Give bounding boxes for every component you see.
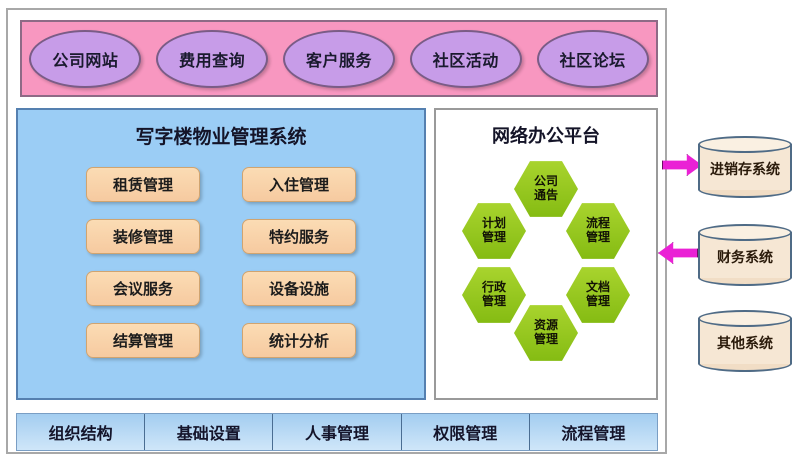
hexagon-company-announcement[interactable]: 公司通告 — [514, 160, 578, 218]
portal-item-label: 客户服务 — [306, 47, 372, 71]
arrow-right-icon — [662, 154, 702, 176]
external-system-label: 进销存系统 — [710, 159, 780, 179]
property-management-panel: 写字楼物业管理系统 租赁管理 入住管理 装修管理 特约服务 会议服务 设备设施 … — [16, 108, 426, 400]
portal-item-company-website[interactable]: 公司网站 — [29, 30, 141, 88]
external-system-label: 财务系统 — [717, 247, 773, 267]
base-item-label: 组织结构 — [49, 420, 113, 444]
module-button-label: 统计分析 — [269, 330, 329, 351]
property-panel-title: 写字楼物业管理系统 — [18, 122, 424, 149]
module-button-occupancy-management[interactable]: 入住管理 — [242, 167, 356, 202]
base-item-permission-management[interactable]: 权限管理 — [402, 414, 530, 450]
module-button-label: 特约服务 — [269, 226, 329, 247]
module-button-label: 结算管理 — [113, 330, 173, 351]
office-platform-panel: 网络办公平台 公司通告 流程管理 文档管理 资源管理 行政管理 计划管理 — [434, 108, 658, 400]
cylinder-label-wrap: 其他系统 — [698, 330, 792, 356]
hexagon-plan-management[interactable]: 计划管理 — [462, 202, 526, 260]
hexagon-workflow-management[interactable]: 流程管理 — [566, 202, 630, 260]
module-button-renovation-management[interactable]: 装修管理 — [86, 219, 200, 254]
portal-item-community-forum[interactable]: 社区论坛 — [537, 30, 649, 88]
module-button-equipment-facility[interactable]: 设备设施 — [242, 271, 356, 306]
external-system-label: 其他系统 — [717, 333, 773, 353]
cylinder-top-ellipse — [698, 224, 792, 241]
base-layer-bar: 组织结构 基础设置 人事管理 权限管理 流程管理 — [16, 413, 658, 451]
hexagon-label: 文档管理 — [581, 281, 615, 309]
external-system-finance[interactable]: 财务系统 — [698, 224, 792, 286]
arrow-left-icon — [658, 242, 698, 264]
portal-item-community-activity[interactable]: 社区活动 — [410, 30, 522, 88]
cylinder-label-wrap: 财务系统 — [698, 244, 792, 270]
base-item-label: 基础设置 — [177, 420, 241, 444]
base-item-label: 人事管理 — [305, 420, 369, 444]
module-button-special-service[interactable]: 特约服务 — [242, 219, 356, 254]
portal-item-label: 社区活动 — [433, 47, 499, 71]
module-button-label: 设备设施 — [269, 278, 329, 299]
office-hexagon-cluster: 公司通告 流程管理 文档管理 资源管理 行政管理 计划管理 — [446, 154, 646, 369]
cylinder-label-wrap: 进销存系统 — [698, 156, 792, 182]
cylinder-top-ellipse — [698, 310, 792, 327]
module-button-settlement-management[interactable]: 结算管理 — [86, 323, 200, 358]
property-module-grid: 租赁管理 入住管理 装修管理 特约服务 会议服务 设备设施 结算管理 统计分析 — [86, 167, 356, 358]
arrow-left-shape — [658, 242, 698, 264]
portal-item-label: 费用查询 — [179, 47, 245, 71]
portal-item-label: 公司网站 — [52, 47, 118, 71]
module-button-lease-management[interactable]: 租赁管理 — [86, 167, 200, 202]
portal-item-customer-service[interactable]: 客户服务 — [283, 30, 395, 88]
hexagon-label: 行政管理 — [477, 281, 511, 309]
hexagon-label: 计划管理 — [477, 217, 511, 245]
cylinder-top-ellipse — [698, 136, 792, 153]
module-button-label: 入住管理 — [269, 174, 329, 195]
base-item-basic-settings[interactable]: 基础设置 — [145, 414, 273, 450]
module-button-label: 装修管理 — [113, 226, 173, 247]
portal-item-fee-inquiry[interactable]: 费用查询 — [156, 30, 268, 88]
hexagon-document-management[interactable]: 文档管理 — [566, 266, 630, 324]
hexagon-label: 公司通告 — [529, 175, 563, 203]
hexagon-label: 流程管理 — [581, 217, 615, 245]
hexagon-resource-management[interactable]: 资源管理 — [514, 304, 578, 362]
base-item-label: 流程管理 — [561, 420, 625, 444]
portal-item-label: 社区论坛 — [560, 47, 626, 71]
arrow-right-shape — [662, 154, 702, 176]
base-item-hr-management[interactable]: 人事管理 — [273, 414, 401, 450]
module-button-meeting-service[interactable]: 会议服务 — [86, 271, 200, 306]
module-button-label: 会议服务 — [113, 278, 173, 299]
base-item-label: 权限管理 — [433, 420, 497, 444]
external-system-other[interactable]: 其他系统 — [698, 310, 792, 372]
base-item-organization-structure[interactable]: 组织结构 — [17, 414, 145, 450]
portal-band: 公司网站 费用查询 客户服务 社区活动 社区论坛 — [20, 20, 658, 97]
hexagon-administrative-management[interactable]: 行政管理 — [462, 266, 526, 324]
hexagon-label: 资源管理 — [529, 319, 563, 347]
office-panel-title: 网络办公平台 — [436, 122, 656, 148]
external-system-inventory[interactable]: 进销存系统 — [698, 136, 792, 198]
module-button-label: 租赁管理 — [113, 174, 173, 195]
base-item-workflow-management[interactable]: 流程管理 — [530, 414, 657, 450]
module-button-statistical-analysis[interactable]: 统计分析 — [242, 323, 356, 358]
